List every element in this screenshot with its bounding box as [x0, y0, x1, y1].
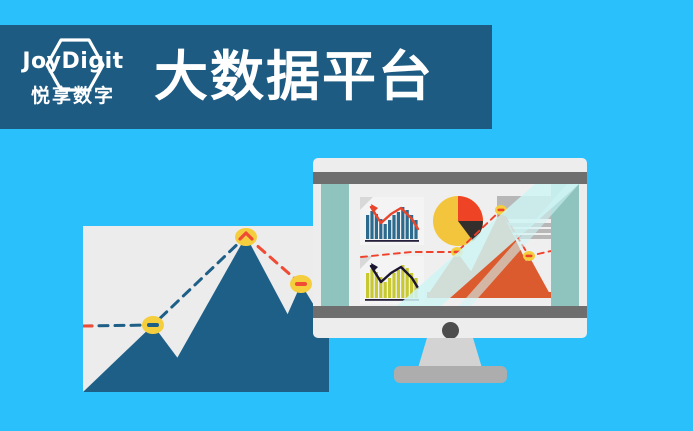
monitor-stand	[418, 338, 482, 368]
monitor-screen	[321, 184, 579, 306]
mountain-base	[427, 292, 551, 298]
page-title: 大数据平台	[154, 50, 434, 104]
left-area-chart	[83, 226, 329, 392]
dashboard-viewport	[349, 184, 551, 306]
left-chart-panel	[83, 226, 329, 392]
marker-1-inner	[454, 251, 461, 254]
marker-2-inner	[498, 209, 505, 212]
header-banner: JoyDigit 悦享数字 大数据平台	[0, 25, 492, 129]
marker-3-inner	[526, 255, 533, 258]
logo-wordmark: JoyDigit	[22, 51, 123, 73]
monitor-base	[394, 366, 507, 383]
mountain-area-chart	[349, 184, 551, 306]
monitor-bottom-bar	[313, 306, 587, 318]
desktop-monitor	[313, 158, 587, 338]
power-indicator-icon[interactable]	[442, 322, 459, 339]
data-point-marker-2[interactable]	[235, 228, 257, 246]
marker-1-inner	[147, 323, 159, 327]
brand-logo: JoyDigit 悦享数字	[14, 31, 132, 123]
marker-3-inner	[295, 282, 307, 286]
illustration-canvas: JoyDigit 悦享数字 大数据平台	[0, 0, 693, 431]
monitor-top-bar	[313, 172, 587, 184]
logo-chinese-name: 悦享数字	[31, 87, 115, 106]
